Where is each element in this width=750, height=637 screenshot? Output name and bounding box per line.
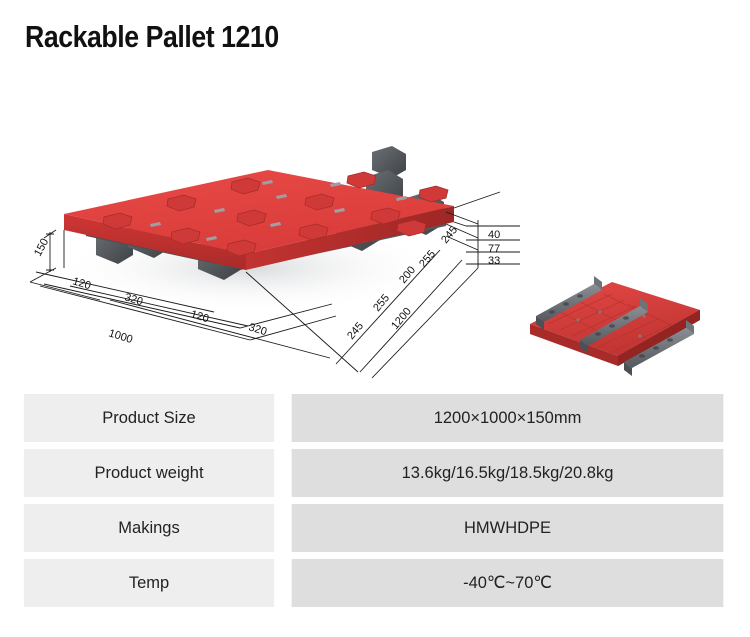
- page-title: Rackable Pallet 1210: [25, 19, 279, 55]
- pallet-technical-drawing: 150 120 320 120 320 1000 245 255 200 255…: [0, 72, 750, 382]
- pallet-underside-view: [530, 276, 700, 376]
- product-figure: 150 120 320 120 320 1000 245 255 200 255…: [0, 72, 750, 382]
- dim-thickness-33: 33: [488, 255, 500, 267]
- dim-bottom-120b: 120: [189, 308, 210, 325]
- dim-right-245a: 245: [345, 320, 366, 342]
- spec-value: 13.6kg/16.5kg/18.5kg/20.8kg: [292, 449, 724, 497]
- table-row: Product weight 13.6kg/16.5kg/18.5kg/20.8…: [20, 449, 730, 497]
- dim-thickness-40: 40: [488, 229, 500, 241]
- spec-value: HMWHDPE: [292, 504, 724, 552]
- dim-height-150: 150: [32, 237, 51, 259]
- spec-value: -40℃~70℃: [292, 559, 724, 607]
- table-row: Product Size 1200×1000×150mm: [20, 394, 730, 442]
- spec-label: Temp: [24, 559, 274, 607]
- spec-label: Makings: [24, 504, 274, 552]
- spec-value: 1200×1000×150mm: [292, 394, 724, 442]
- spec-table: Product Size 1200×1000×150mm Product wei…: [20, 394, 730, 614]
- dim-right-1200: 1200: [389, 305, 414, 331]
- dim-bottom-320b: 320: [247, 321, 268, 338]
- dim-right-245b: 245: [439, 224, 460, 246]
- spec-label: Product Size: [24, 394, 274, 442]
- table-row: Temp -40℃~70℃: [20, 559, 730, 607]
- table-row: Makings HMWHDPE: [20, 504, 730, 552]
- dim-bottom-1000: 1000: [107, 327, 134, 346]
- dim-thickness-77: 77: [488, 243, 500, 255]
- spec-label: Product weight: [24, 449, 274, 497]
